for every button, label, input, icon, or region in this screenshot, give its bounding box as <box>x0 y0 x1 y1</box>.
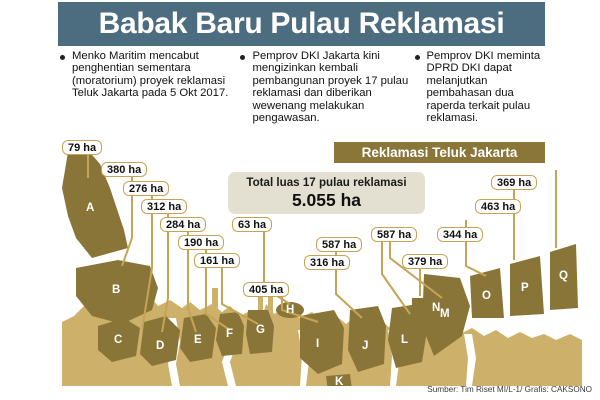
area-callout-379: 379 ha <box>402 254 448 269</box>
bullet-dot-icon <box>240 55 245 60</box>
header-bar: Babak Baru Pulau Reklamasi <box>58 2 545 46</box>
area-callout-161: 161 ha <box>194 253 240 268</box>
island-G <box>246 310 274 354</box>
total-area-box: Total luas 17 pulau reklamasi 5.055 ha <box>228 172 425 214</box>
island-P <box>510 256 544 316</box>
island-C <box>98 318 140 362</box>
bullet-text: Pemprov DKI meminta DPRD DKI dapat melan… <box>427 50 546 124</box>
area-callout-587-m: 587 ha <box>316 237 362 252</box>
area-callout-79: 79 ha <box>62 140 102 155</box>
area-callout-316: 316 ha <box>304 255 350 270</box>
area-callout-344: 344 ha <box>437 227 483 242</box>
area-callout-463: 463 ha <box>475 199 521 214</box>
area-callout-284: 284 ha <box>160 217 206 232</box>
area-callout-405: 405 ha <box>243 282 289 297</box>
island-O <box>470 268 504 318</box>
bullet-item: Menko Maritim mencabut penghentian semen… <box>60 50 240 124</box>
area-callout-587-n: 587 ha <box>371 227 417 242</box>
area-callout-190: 190 ha <box>178 235 224 250</box>
bullet-dot-icon <box>60 55 65 60</box>
map-banner-label: Reklamasi Teluk Jakarta <box>362 145 518 160</box>
area-callout-276: 276 ha <box>123 181 169 196</box>
mainland-pier <box>212 288 218 318</box>
island-E <box>180 314 216 362</box>
island-N <box>412 298 462 322</box>
page-title: Babak Baru Pulau Reklamasi <box>99 7 505 41</box>
area-callout-63: 63 ha <box>232 217 272 232</box>
bullet-list: Menko Maritim mencabut penghentian semen… <box>60 50 545 124</box>
bullet-text: Pemprov DKI Jakarta kini mengizinkan kem… <box>252 50 414 124</box>
bullet-dot-icon <box>415 55 420 60</box>
bullet-text: Menko Maritim mencabut penghentian semen… <box>72 50 240 100</box>
total-area-label: Total luas 17 pulau reklamasi <box>246 176 406 189</box>
island-Q <box>550 244 578 310</box>
island-K <box>326 374 352 386</box>
island-J <box>348 306 386 372</box>
map-banner: Reklamasi Teluk Jakarta <box>334 142 545 163</box>
infographic-root: Babak Baru Pulau Reklamasi Menko Maritim… <box>0 0 600 400</box>
source-credit: Sumber: Tim Riset MI/L-1/ Grafis: CAKSON… <box>427 385 592 394</box>
area-callout-369: 369 ha <box>491 175 537 190</box>
area-callout-380: 380 ha <box>101 162 147 177</box>
bullet-item: Pemprov DKI Jakarta kini mengizinkan kem… <box>240 50 414 124</box>
island-F <box>216 312 244 356</box>
bullet-item: Pemprov DKI meminta DPRD DKI dapat melan… <box>415 50 546 124</box>
area-callout-312: 312 ha <box>141 199 187 214</box>
total-area-value: 5.055 ha <box>292 190 361 211</box>
